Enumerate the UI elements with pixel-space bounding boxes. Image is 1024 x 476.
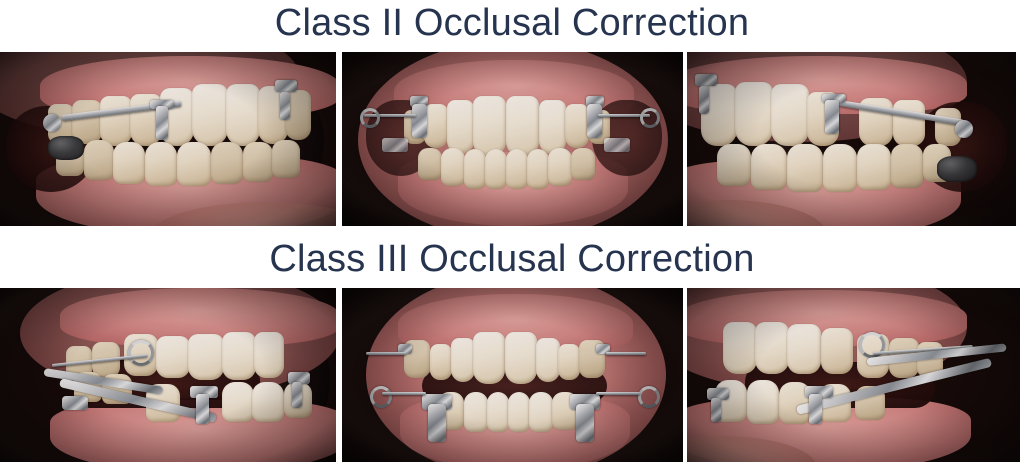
photo-vignette bbox=[0, 288, 336, 462]
photo-vignette bbox=[0, 52, 336, 226]
photo-vignette bbox=[342, 288, 683, 462]
photo-row-class-iii bbox=[0, 288, 1024, 462]
photo-vignette bbox=[342, 52, 683, 226]
section-title-class-ii: Class II Occlusal Correction bbox=[0, 4, 1024, 42]
photo-class-ii-frontal[interactable] bbox=[342, 52, 683, 226]
photo-row-class-ii bbox=[0, 52, 1024, 226]
poster-page: Class II Occlusal Correction bbox=[0, 0, 1024, 476]
photo-vignette bbox=[687, 288, 1020, 462]
photo-vignette bbox=[687, 52, 1016, 226]
photo-class-iii-right-buccal[interactable] bbox=[0, 288, 336, 462]
section-title-class-iii: Class III Occlusal Correction bbox=[0, 240, 1024, 278]
photo-class-iii-left-buccal[interactable] bbox=[687, 288, 1020, 462]
photo-class-iii-frontal[interactable] bbox=[342, 288, 683, 462]
photo-class-ii-right-buccal[interactable] bbox=[0, 52, 336, 226]
photo-class-ii-left-buccal[interactable] bbox=[687, 52, 1016, 226]
